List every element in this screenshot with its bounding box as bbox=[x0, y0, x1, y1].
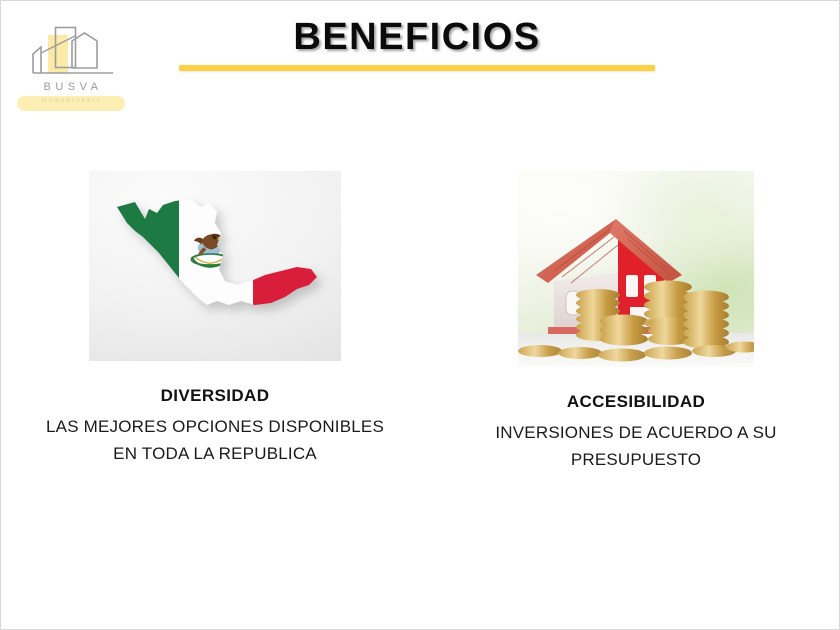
logo-tagline: Homebrokers bbox=[15, 98, 127, 104]
benefit-body: LAS MEJORES OPCIONES DISPONIBLES EN TODA… bbox=[11, 413, 419, 467]
mexico-map-flag-image bbox=[89, 171, 341, 361]
benefit-body-line: LAS MEJORES OPCIONES DISPONIBLES bbox=[11, 413, 419, 440]
mexico-map-artwork bbox=[105, 189, 325, 341]
page-title: BENEFICIOS bbox=[177, 13, 657, 61]
benefit-column-diversidad: DIVERSIDAD LAS MEJORES OPCIONES DISPONIB… bbox=[11, 171, 419, 467]
house-and-coins-image bbox=[518, 171, 754, 367]
benefit-column-accesibilidad: ACCESIBILIDAD INVERSIONES DE ACUERDO A S… bbox=[441, 171, 831, 473]
house-and-coins-artwork bbox=[518, 171, 754, 367]
benefit-heading: ACCESIBILIDAD bbox=[441, 391, 831, 413]
benefit-body-line: PRESUPUESTO bbox=[441, 446, 831, 473]
benefit-body-line: INVERSIONES DE ACUERDO A SU bbox=[441, 419, 831, 446]
benefit-heading: DIVERSIDAD bbox=[11, 385, 419, 407]
buildings-icon bbox=[15, 23, 127, 81]
presentation-slide: BUSVA Homebrokers BENEFICIOS bbox=[0, 0, 840, 630]
brand-logo[interactable]: BUSVA Homebrokers bbox=[15, 23, 127, 113]
benefit-body-line: EN TODA LA REPUBLICA bbox=[11, 440, 419, 467]
logo-wordmark: BUSVA bbox=[15, 81, 127, 93]
benefit-body: INVERSIONES DE ACUERDO A SU PRESUPUESTO bbox=[441, 419, 831, 473]
title-underline-bar bbox=[179, 65, 655, 71]
